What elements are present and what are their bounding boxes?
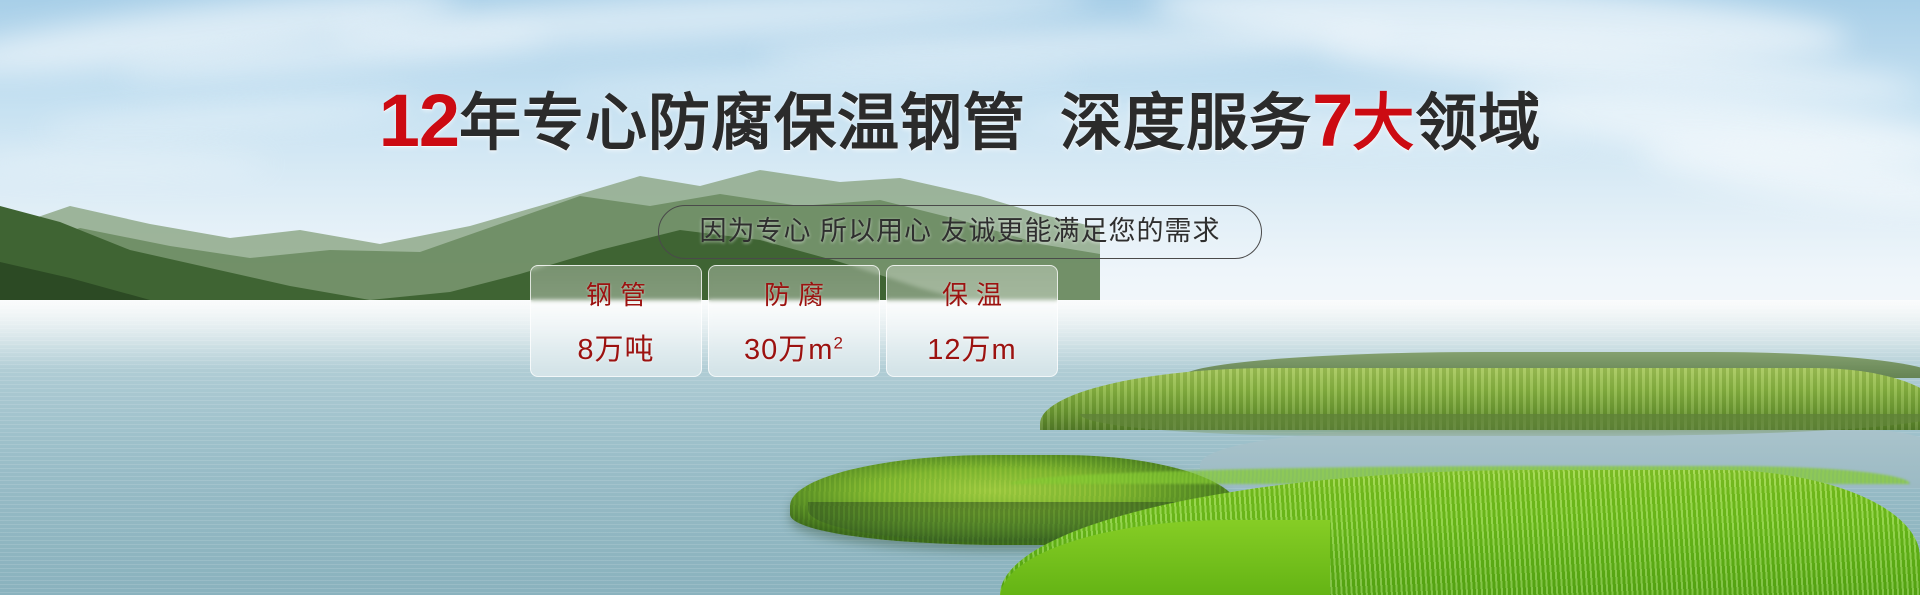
headline-part-one: 专心防腐保温钢管 xyxy=(522,89,1026,158)
stat-card-value-superscript: 2 xyxy=(833,333,843,352)
headline: 12年专心防腐保温钢管深度服务7大领域 xyxy=(0,84,1920,158)
stat-card-title: 钢管 xyxy=(578,275,654,312)
stat-card-title: 防腐 xyxy=(756,275,832,312)
stat-card-value-text: 8万吨 xyxy=(577,334,654,366)
headline-lead-suffix: 年 xyxy=(459,89,522,158)
stat-card-anticorrosion[interactable]: 防腐 30万m2 xyxy=(708,265,880,377)
headline-highlight-suffix: 大 xyxy=(1352,89,1415,158)
hero-banner: 12年专心防腐保温钢管深度服务7大领域 因为专心 所以用心 友诚更能满足您的需求… xyxy=(0,0,1920,595)
stat-card-value: 8万吨 xyxy=(577,326,654,368)
stat-card-value: 12万m xyxy=(927,326,1016,368)
stat-card-value-text: 12万m xyxy=(927,334,1016,366)
headline-highlight-number: 7 xyxy=(1312,79,1352,162)
headline-part-two: 深度服务 xyxy=(1060,89,1312,158)
headline-lead-number: 12 xyxy=(379,79,459,162)
stat-card-steel-pipe[interactable]: 钢管 8万吨 xyxy=(530,265,702,377)
banner-content: 12年专心防腐保温钢管深度服务7大领域 因为专心 所以用心 友诚更能满足您的需求… xyxy=(0,0,1920,595)
stat-card-insulation[interactable]: 保温 12万m xyxy=(886,265,1058,377)
subtitle-container: 因为专心 所以用心 友诚更能满足您的需求 xyxy=(0,205,1920,259)
stat-card-value: 30万m2 xyxy=(744,326,844,368)
stat-card-value-text: 30万m xyxy=(744,334,833,366)
stat-card-title: 保温 xyxy=(934,275,1010,312)
subtitle-pill: 因为专心 所以用心 友诚更能满足您的需求 xyxy=(658,205,1261,259)
stat-cards: 钢管 8万吨 防腐 30万m2 保温 12万m xyxy=(530,265,1058,377)
headline-part-three: 领域 xyxy=(1415,89,1541,158)
